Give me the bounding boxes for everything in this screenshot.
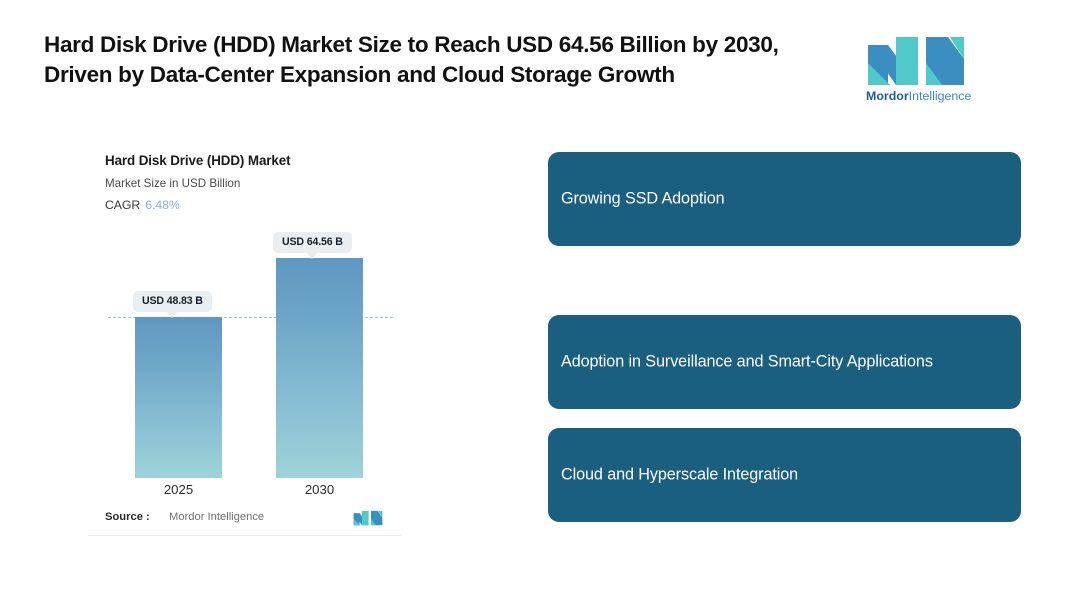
axis-label-2025: 2025 <box>135 482 222 497</box>
value-badge-2025: USD 48.83 B <box>133 291 212 312</box>
chart-source-row: Source : Mordor Intelligence <box>105 509 385 531</box>
source-label: Source : <box>105 511 150 523</box>
mordor-intelligence-logo: MordorIntelligence <box>866 33 966 111</box>
mordor-logo-small-icon <box>353 509 383 526</box>
source-value: Mordor Intelligence <box>169 511 264 523</box>
trend-card-1[interactable]: Adoption in Surveillance and Smart-City … <box>548 315 1021 409</box>
bar-2025[interactable] <box>135 317 222 478</box>
trend-card-2[interactable]: Cloud and Hyperscale Integration <box>548 428 1021 522</box>
brand-name-light: Intelligence <box>909 89 972 103</box>
page-header: Hard Disk Drive (HDD) Market Size to Rea… <box>0 0 1079 122</box>
bar-chart-plot: USD 48.83 B USD 64.56 B 2025 2030 <box>88 140 401 480</box>
mordor-logo-mark <box>866 33 966 85</box>
infographic-page: Hard Disk Drive (HDD) Market Size to Rea… <box>0 0 1079 592</box>
axis-label-2030: 2030 <box>276 482 363 497</box>
trend-card-2-label: Cloud and Hyperscale Integration <box>561 462 981 487</box>
trend-card-3-label: Growing SSD Adoption <box>561 186 981 211</box>
value-badge-2030: USD 64.56 B <box>273 232 352 253</box>
bar-2030[interactable] <box>276 258 363 478</box>
page-title: Hard Disk Drive (HDD) Market Size to Rea… <box>44 30 844 89</box>
chart-card: Hard Disk Drive (HDD) Market Market Size… <box>88 140 401 536</box>
trend-card-3[interactable]: Growing SSD Adoption <box>548 152 1021 246</box>
trend-card-1-label: Adoption in Surveillance and Smart-City … <box>561 349 981 374</box>
brand-name-bold: Mordor <box>866 89 909 103</box>
brand-wordmark: MordorIntelligence <box>866 89 966 103</box>
